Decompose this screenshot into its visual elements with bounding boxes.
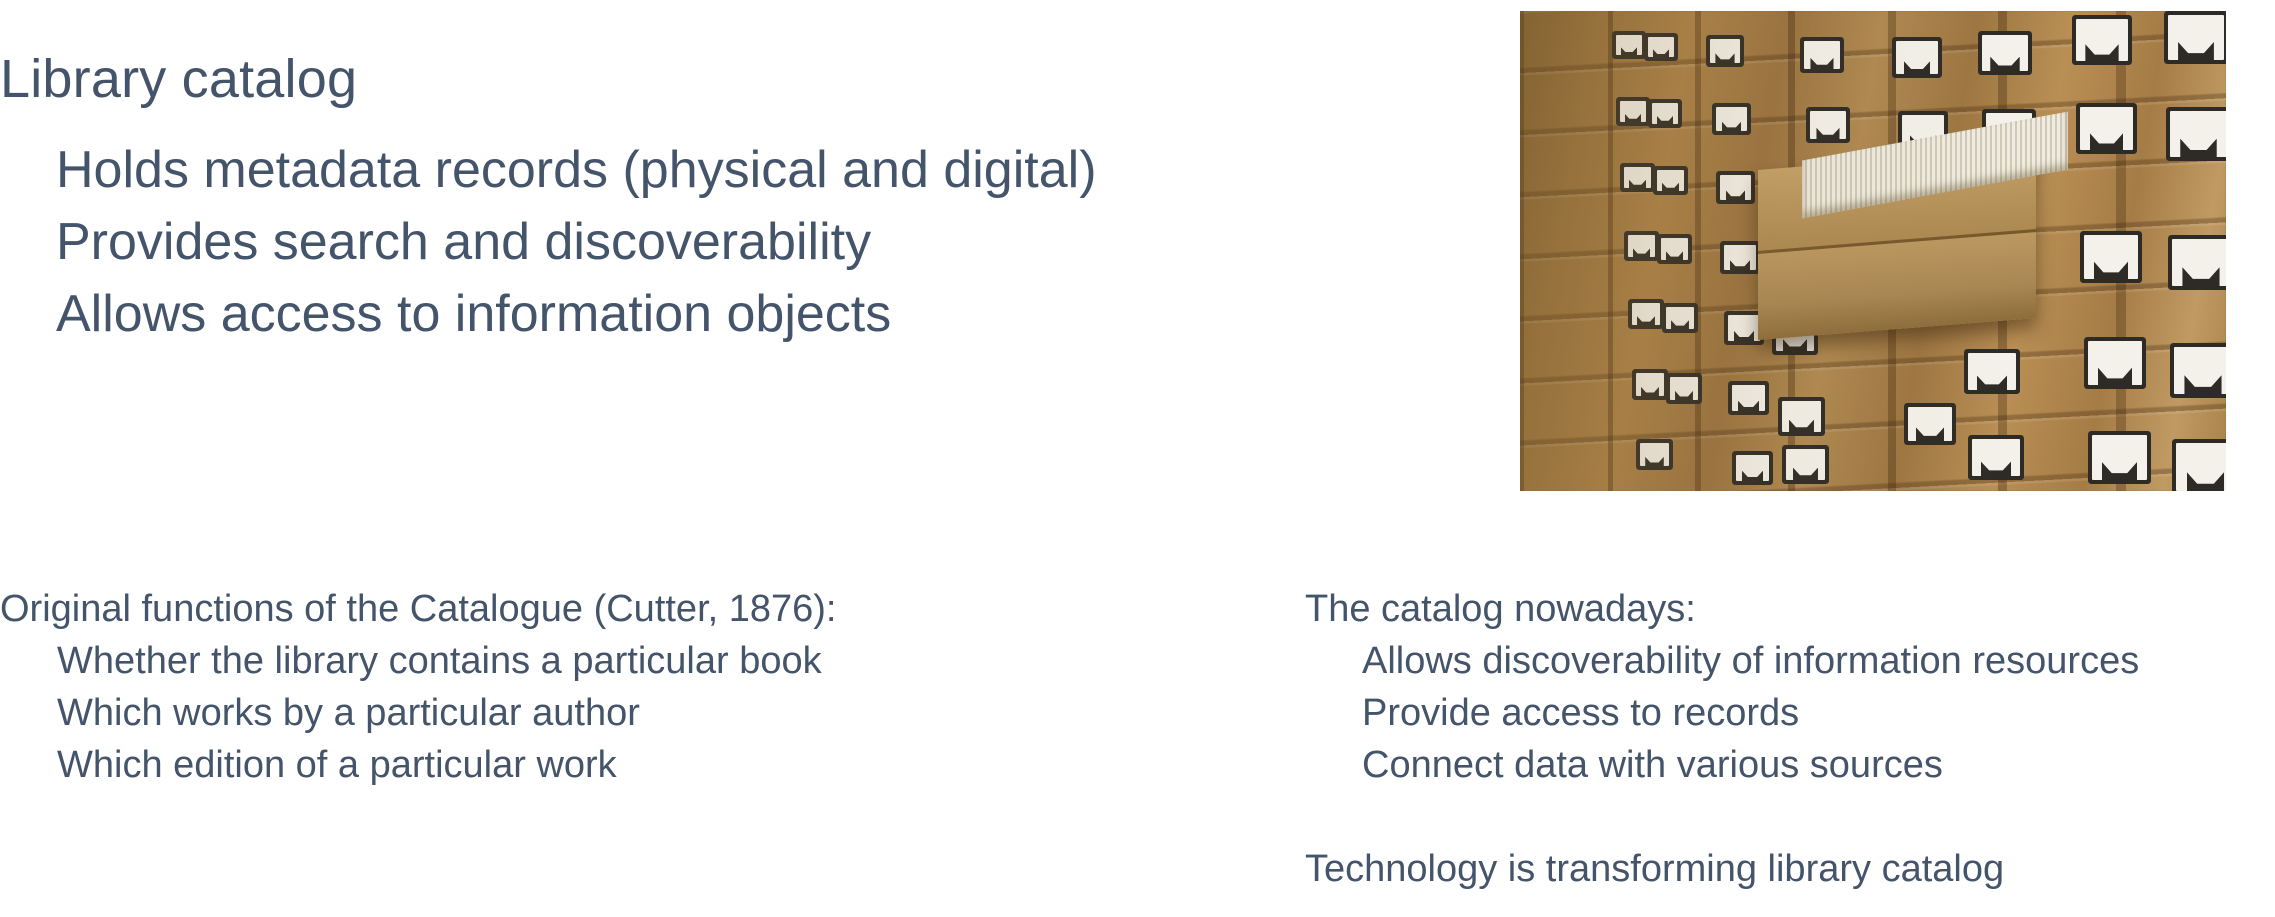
left-column-item-1: Whether the library contains a particula…	[0, 635, 1180, 687]
top-bullet-item-3: Allows access to information objects	[0, 278, 1460, 350]
right-column-item-3: Connect data with various sources	[1305, 739, 2275, 791]
top-bullet-list: Holds metadata records (physical and dig…	[0, 134, 1460, 350]
left-column-item-2: Which works by a particular author	[0, 687, 1180, 739]
card-catalog-photo	[1520, 11, 2226, 491]
left-column: Original functions of the Catalogue (Cut…	[0, 583, 1180, 791]
right-column-item-2: Provide access to records	[1305, 687, 2275, 739]
right-column-item-1: Allows discoverability of information re…	[1305, 635, 2275, 687]
left-column-heading: Original functions of the Catalogue (Cut…	[0, 583, 1180, 635]
right-column-spacer	[1305, 791, 2275, 843]
right-column-heading: The catalog nowadays:	[1305, 583, 2275, 635]
right-column: The catalog nowadays: Allows discoverabi…	[1305, 583, 2275, 895]
slide-canvas: Library catalog Holds metadata records (…	[0, 0, 2275, 917]
top-bullet-item-1: Holds metadata records (physical and dig…	[0, 134, 1460, 206]
top-bullet-item-2: Provides search and discoverability	[0, 206, 1460, 278]
top-text-block: Library catalog Holds metadata records (…	[0, 44, 1460, 350]
left-column-item-3: Which edition of a particular work	[0, 739, 1180, 791]
open-drawer	[1758, 148, 2036, 340]
page-title: Library catalog	[0, 44, 1460, 114]
right-column-closing-line: Technology is transforming library catal…	[1305, 843, 2275, 895]
